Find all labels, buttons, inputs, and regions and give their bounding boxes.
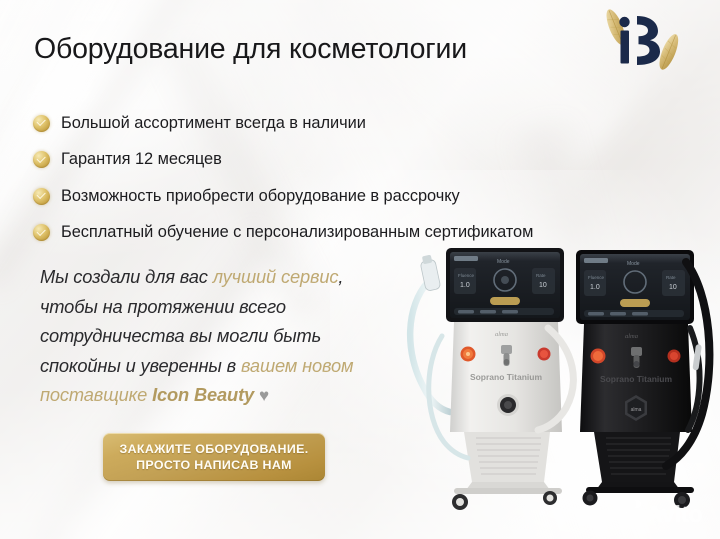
paragraph-part-1: Мы создали для вас: [40, 266, 213, 287]
list-item-label: Возможность приобрести оборудование в ра…: [61, 187, 460, 206]
cta-line-2: ПРОСТО НАПИСАВ НАМ: [136, 457, 292, 474]
equipment-photo: Mode Fluence 1.0 Rate 10 alma: [398, 232, 720, 514]
order-equipment-button[interactable]: ЗАКАЖИТЕ ОБОРУДОВАНИЕ. ПРОСТО НАПИСАВ НА…: [103, 433, 325, 481]
svg-text:Rate: Rate: [536, 273, 546, 278]
page-title: Оборудование для косметологии: [34, 33, 467, 66]
svg-text:Soprano Titanium: Soprano Titanium: [600, 374, 673, 384]
svg-text:1.0: 1.0: [460, 282, 470, 289]
svg-text:Fluence: Fluence: [588, 275, 605, 280]
svg-text:Mode: Mode: [627, 261, 640, 267]
cta-line-1: ЗАКАЖИТЕ ОБОРУДОВАНИЕ.: [120, 441, 309, 458]
svg-text:1.0: 1.0: [590, 284, 600, 291]
list-item: Возможность приобрести оборудование в ра…: [33, 178, 693, 215]
svg-text:10: 10: [539, 282, 547, 289]
check-circle-icon: [33, 224, 50, 241]
heart-icon: ♥: [259, 386, 269, 405]
list-item: Большой ассортимент всегда в наличии: [33, 105, 693, 142]
svg-text:alma: alma: [495, 331, 508, 338]
marketing-paragraph: Мы создали для вас лучший сервис, чтобы …: [40, 262, 400, 411]
brand-name: Icon Beauty: [152, 384, 254, 405]
svg-text:Fluence: Fluence: [458, 273, 475, 278]
svg-text:alma: alma: [631, 407, 642, 413]
svg-text:10: 10: [669, 284, 677, 291]
icon-beauty-logo: [596, 8, 688, 70]
svg-text:Rate: Rate: [666, 275, 676, 280]
paragraph-accent-1: лучший сервис: [213, 266, 339, 287]
list-item-label: Большой ассортимент всегда в наличии: [61, 114, 366, 133]
check-circle-icon: [33, 188, 50, 205]
svg-text:Soprano Titanium: Soprano Titanium: [470, 372, 543, 382]
svg-text:Mode: Mode: [497, 259, 510, 265]
feature-list: Большой ассортимент всегда в наличии Гар…: [33, 105, 693, 251]
check-circle-icon: [33, 115, 50, 132]
list-item: Гарантия 12 месяцев: [33, 142, 693, 179]
svg-text:alma: alma: [625, 333, 638, 340]
check-circle-icon: [33, 151, 50, 168]
avito-wordmark: Avito: [646, 501, 703, 527]
avito-watermark: Avito: [616, 498, 714, 528]
list-item-label: Гарантия 12 месяцев: [61, 150, 222, 169]
